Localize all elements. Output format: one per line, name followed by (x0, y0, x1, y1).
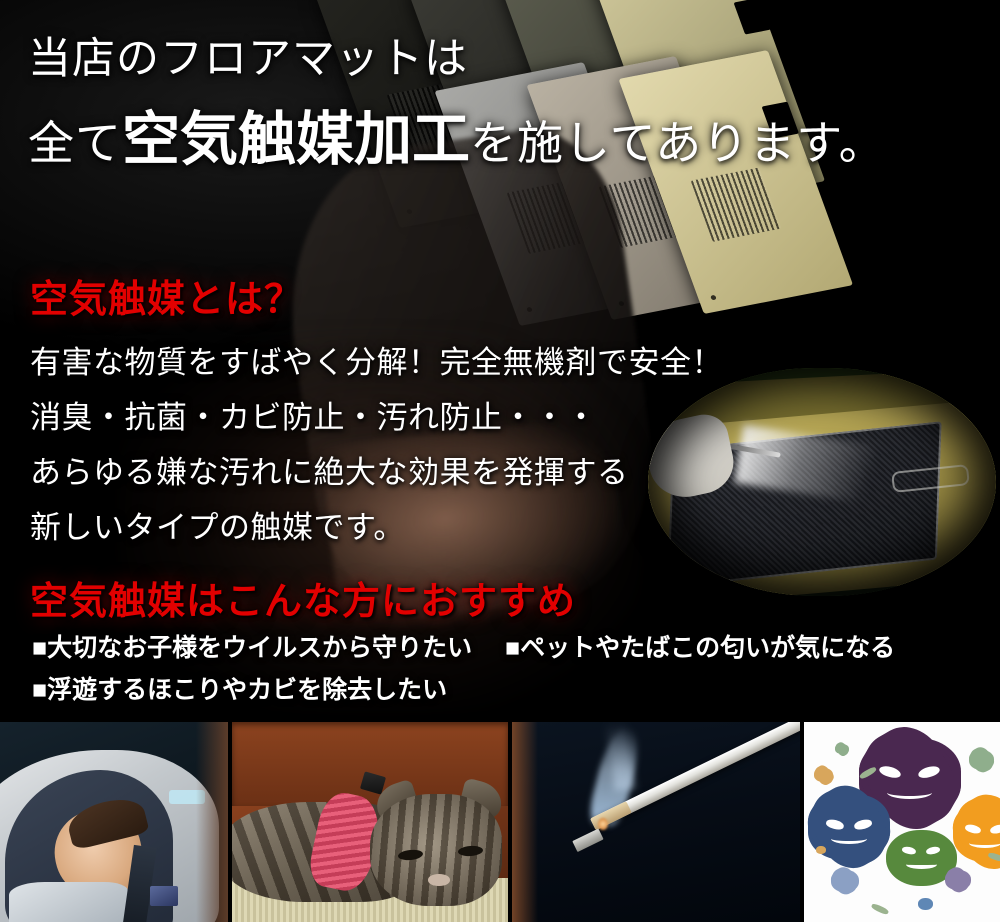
germ-small-dot (831, 870, 858, 892)
recommend-bullet-2: ■ペットやたばこの匂いが気になる (505, 628, 895, 664)
baby-clothing (9, 882, 128, 922)
photo-strip (0, 722, 1000, 922)
germ-mouth (887, 786, 932, 799)
germ-mouth (831, 834, 867, 845)
spray-photo-vignette (648, 368, 996, 596)
germ-green-icon (886, 830, 957, 886)
recommend-bullet-1: ■大切なお子様をウイルスから守りたい (32, 628, 472, 664)
section-recommend-heading: 空気触媒はこんな方におすすめ (30, 570, 576, 625)
germ-eye-left (901, 845, 916, 855)
germ-small-dot (918, 898, 934, 910)
section-what-line-1: 有害な物質をすばやく分解！完全無機剤で安全！ (30, 337, 723, 382)
germ-green-face (886, 830, 957, 886)
cigarette-photo-edge (512, 722, 538, 922)
advertisement-page: 当店のフロアマットは 全て空気触媒加工を施してあります。 空気触媒とは？ 有害な… (0, 0, 1000, 922)
headline-emphasis: 空気触媒加工 (122, 107, 470, 172)
baby-photo-edge (196, 722, 228, 922)
section-what-heading: 空気触媒とは？ (30, 268, 303, 323)
germ-eye-left (878, 764, 902, 780)
cigarette-photo-background (512, 722, 800, 922)
germ-mouth (906, 860, 937, 869)
headline-line-2: 全て空気触媒加工を施してあります。 (28, 92, 886, 176)
germ-eye-right (925, 845, 940, 855)
headline-prefix: 全て (28, 118, 122, 169)
headline-suffix: を施してあります。 (470, 118, 886, 169)
cat-muzzle (428, 874, 450, 886)
hero-section: 当店のフロアマットは 全て空気触媒加工を施してあります。 空気触媒とは？ 有害な… (0, 0, 1000, 722)
germ-eye-left (825, 818, 845, 831)
cartoon-germs-illustration (804, 722, 1000, 922)
section-what-line-3: あらゆる嫌な汚れに絶大な効果を発揮する (30, 447, 629, 492)
recommend-bullet-3: ■浮遊するほこりやカビを除去したい (32, 670, 447, 706)
germ-small-dot (814, 768, 834, 782)
spray-application-photo (648, 368, 996, 596)
section-what-line-4: 新しいタイプの触媒です。 (30, 502, 405, 547)
tabby-kitten-with-red-collar-photo (232, 722, 508, 922)
germ-orange-face (953, 802, 1000, 862)
germ-mouth (969, 838, 1000, 848)
germ-navy-icon (808, 794, 890, 860)
germ-eye-left (964, 823, 982, 835)
germ-navy-face (808, 794, 890, 860)
germ-eye-right (917, 764, 941, 780)
headline-line-1: 当店のフロアマットは (28, 24, 468, 86)
section-what-line-2: 消臭・抗菌・カビ防止・汚れ防止・・・ (30, 392, 597, 437)
germ-eye-right (989, 823, 1000, 835)
lit-cigarette-with-smoke-photo (512, 722, 800, 922)
germ-small-dot (835, 744, 849, 754)
germ-orange-icon (953, 802, 1000, 862)
baby-in-car-seat-photo (0, 722, 228, 922)
car-seat-buckle (150, 886, 177, 906)
germ-small-dot (969, 750, 994, 770)
germ-eye-right (853, 818, 873, 831)
